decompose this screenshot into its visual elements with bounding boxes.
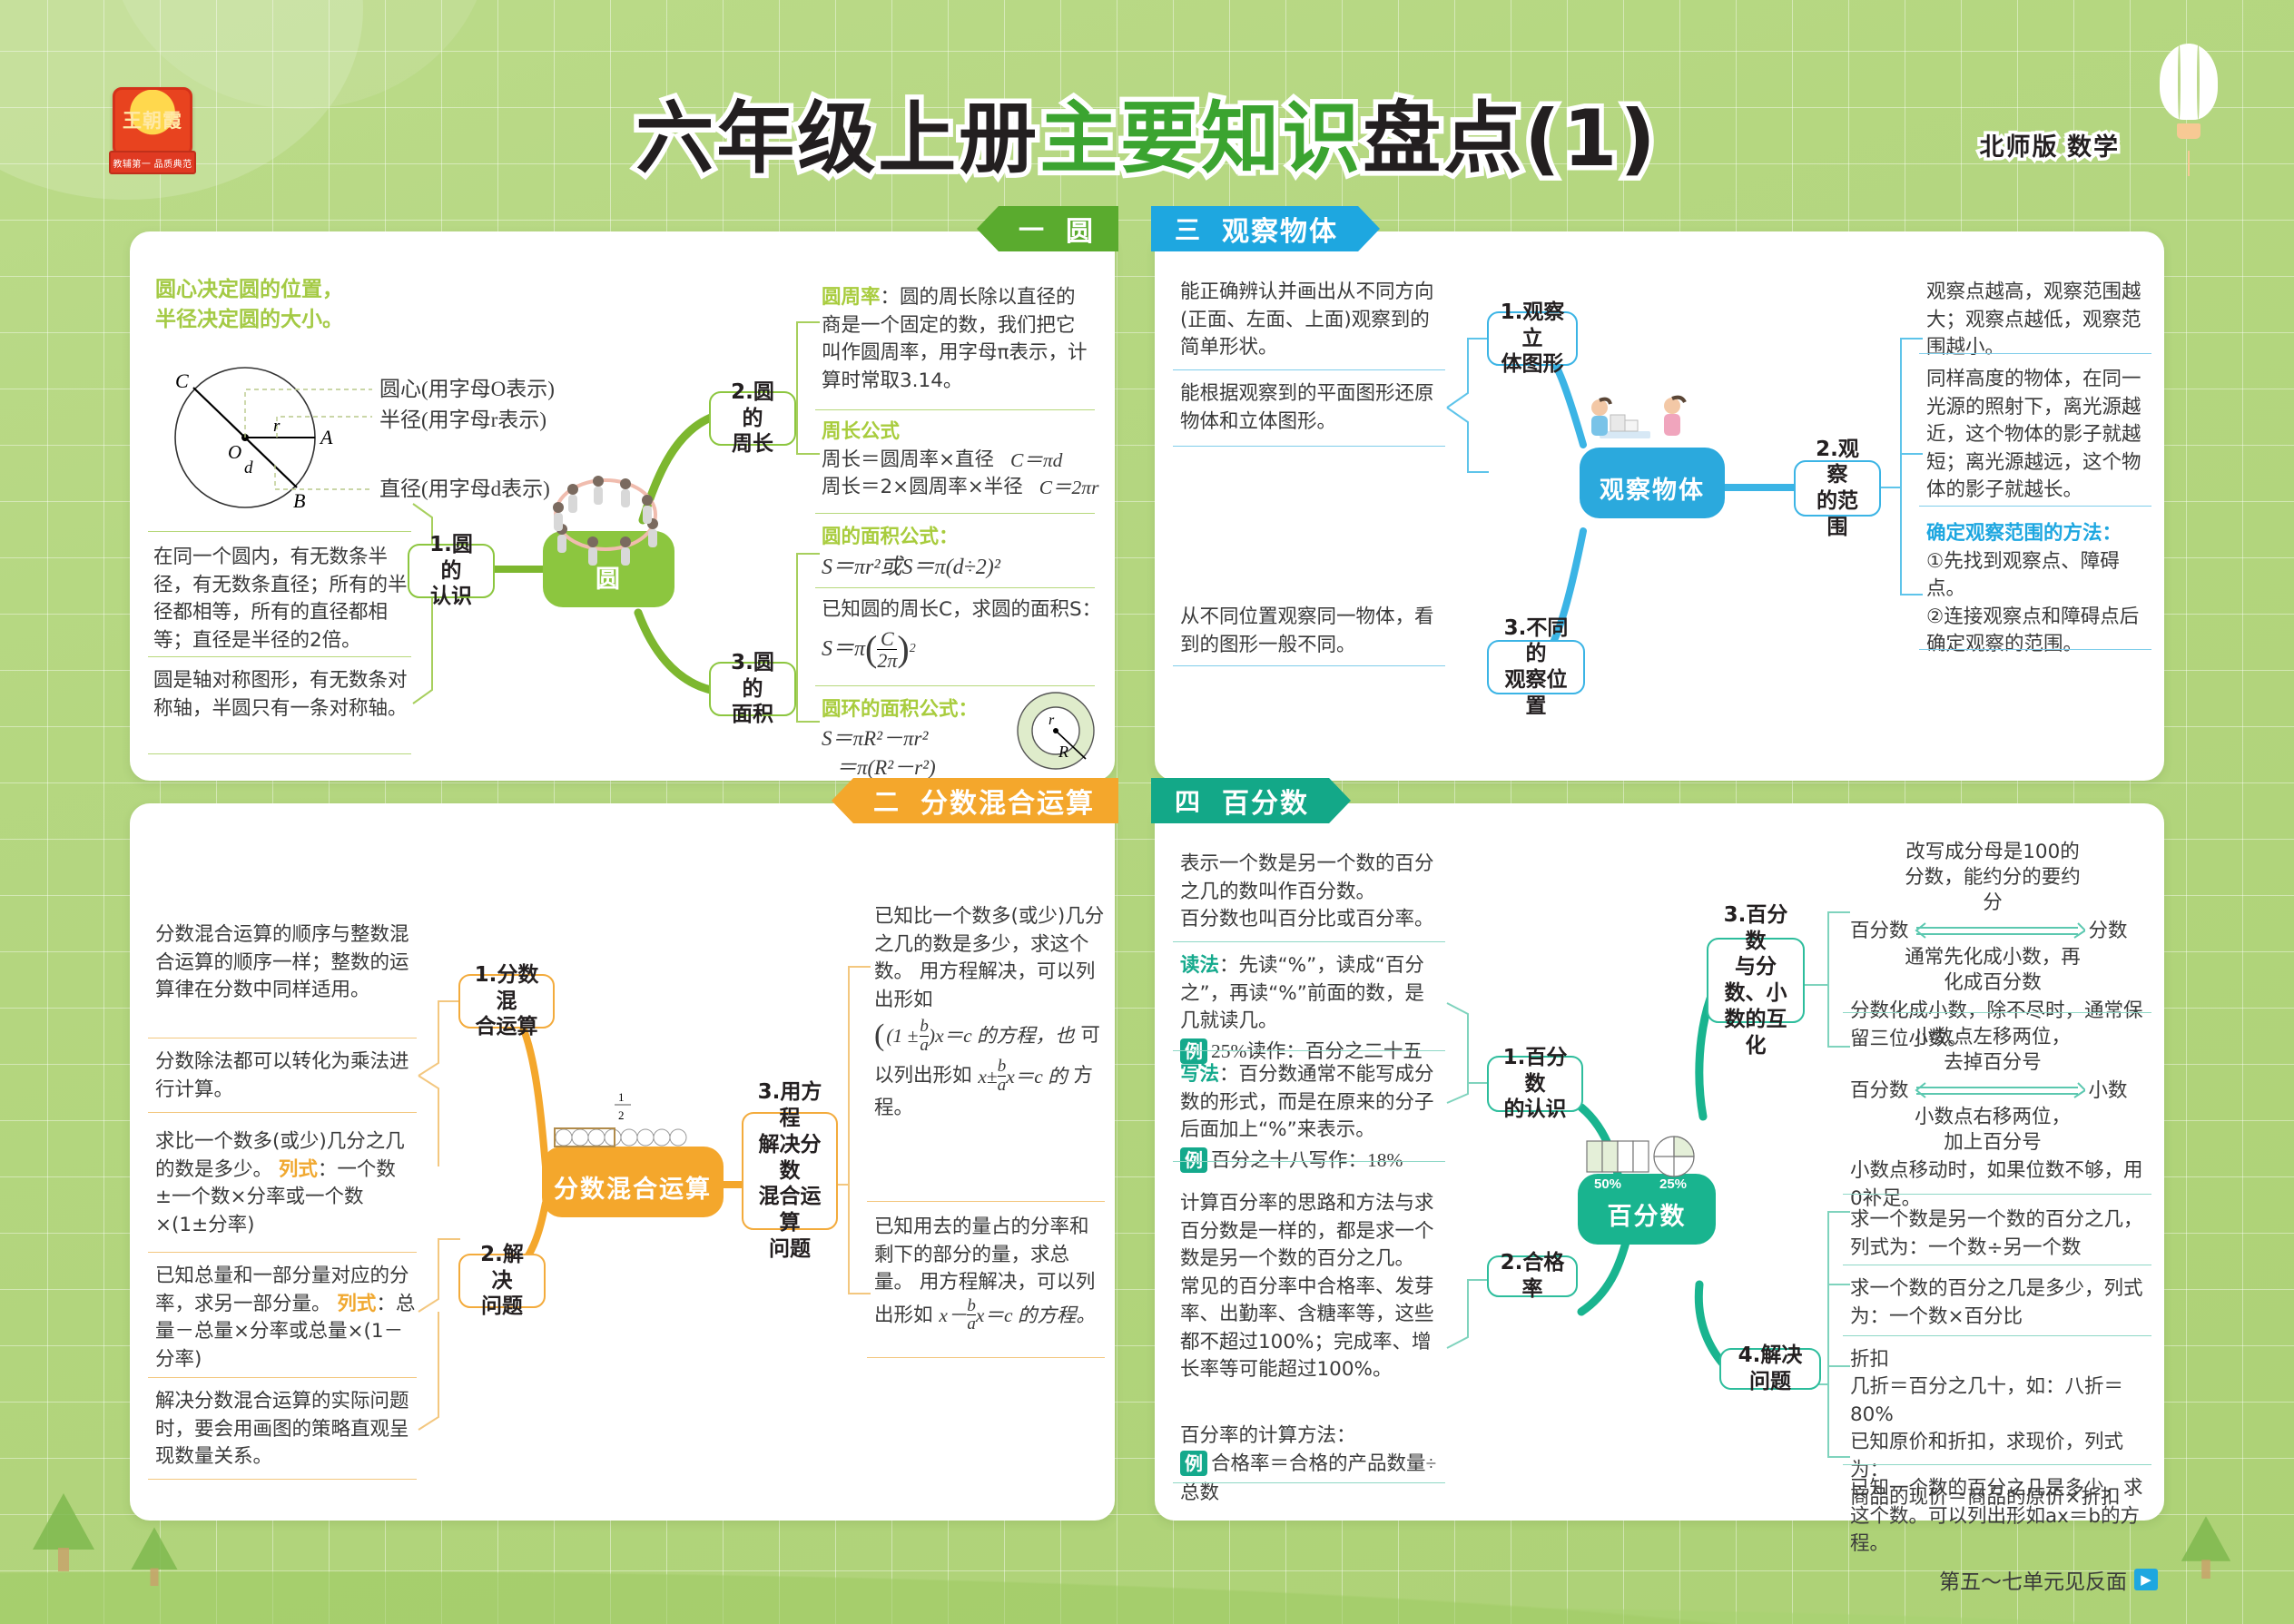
percent-rate-method-title: 百分率的计算方法： <box>1180 1422 1443 1451</box>
divider <box>1173 941 1445 942</box>
divider <box>148 656 411 657</box>
solve-1-label: 列式 <box>279 1158 318 1181</box>
conv1-from: 百分数 <box>1850 918 1909 946</box>
section-label-observe: 三 观察物体 <box>1151 206 1380 251</box>
fraction-solve-3: 解决分数混合运算的实际问题时，要会用画图的策略直观呈现数量关系。 <box>155 1388 417 1471</box>
svg-text:A: A <box>319 426 333 448</box>
divider <box>1173 665 1445 666</box>
observe-note-3: 从不同位置观察同一物体，看到的图形一般不同。 <box>1180 604 1443 659</box>
title-part-grade: 六年级上册 <box>635 94 1039 184</box>
circle-area-known: 已知圆的周长C，求圆的面积S： <box>822 596 1112 625</box>
double-arrow-icon <box>1913 1081 2085 1101</box>
conv2-to: 小数 <box>2089 1078 2128 1106</box>
chip-circle-1[interactable]: 1.圆的 认识 <box>408 544 495 598</box>
divider <box>1843 1012 2151 1013</box>
circle-ring-title: 圆环的面积公式： <box>822 696 1021 724</box>
perimeter-line-1: 周长＝圆周率×直径 <box>822 447 994 475</box>
percent-solve-4: 已知一个数的百分之几是多少，求这个数。可以列出形如ax＝b的方程。 <box>1850 1475 2150 1559</box>
chip-circle-2[interactable]: 2.圆的 周长 <box>709 391 796 446</box>
divider <box>148 753 411 754</box>
conv2-below: 小数点右移两位， 加上百分号 <box>1897 1105 2088 1156</box>
divider <box>148 1252 417 1253</box>
panel-fraction: 二 分数混合运算 分数混合运算的顺序与整数混合运算的顺序一样；整数的运算律在分数… <box>130 803 1115 1521</box>
footer: 第五～七单元见反面 ▶ <box>1939 1564 2158 1595</box>
divider <box>148 531 411 532</box>
section-number: 二 <box>873 782 901 819</box>
eq2-f-tail: x＝c 的方程。 <box>976 1302 1096 1330</box>
chip-observe-2[interactable]: 2.观察 的范围 <box>1794 460 1881 517</box>
divider <box>1843 1335 2151 1336</box>
eq2-f-lead: x－ <box>939 1302 967 1330</box>
double-arrow-icon <box>1913 921 2085 941</box>
divider <box>148 1479 417 1480</box>
panel-percent: 四 百分数 表示一个数是另一个数的百分之几的数叫作百分数。 百分数也叫百分比或百… <box>1155 803 2164 1521</box>
percent-discount-title: 折扣 <box>1850 1346 1889 1374</box>
chip-percent-2[interactable]: 2.合格率 <box>1487 1255 1578 1297</box>
chip-circle-3[interactable]: 3.圆的 面积 <box>709 662 796 716</box>
section-label-fraction: 二 分数混合运算 <box>832 778 1118 823</box>
circle-pi-label: 圆周率 <box>822 286 881 309</box>
divider <box>1919 649 2151 650</box>
section-number: 三 <box>1175 211 1202 247</box>
observe-note-2: 能根据观察到的平面图形还原物体和立体图形。 <box>1180 380 1443 436</box>
conv1-below: 通常先化成小数，再 化成百分数 <box>1897 945 2088 996</box>
svg-text:C: C <box>175 369 189 392</box>
divider <box>1843 1265 2151 1265</box>
conv2-extra: 小数点移动时，如果位数不够，用0补足。 <box>1850 1157 2150 1213</box>
svg-text:d: d <box>244 458 253 477</box>
panel-observe: 三 观察物体 能正确辨认并画出从不同方向(正面、左面、上面)观察到的简单形状。 … <box>1155 231 2164 781</box>
conv2-above: 小数点左移两位， 去掉百分号 <box>1897 1025 2088 1076</box>
svg-text:2: 2 <box>618 1108 625 1122</box>
hub-fraction: 分数混合运算 <box>542 1147 724 1217</box>
page-title: 六年级上册主要知识盘点(1) <box>0 74 2294 188</box>
observe-method-item-1: ①先找到观察点、障碍点。 <box>1926 548 2155 604</box>
section-label-percent: 四 百分数 <box>1151 778 1351 823</box>
svg-text:1: 1 <box>618 1090 625 1104</box>
percent-write-block: 写法：百分数通常不能写成分数的形式，而是在原来的分子后面加上“%”来表示。 例百… <box>1180 1061 1443 1175</box>
observe-method-title: 确定观察范围的方法： <box>1926 520 2155 548</box>
section-name: 观察物体 <box>1222 209 1338 249</box>
percent-rate-example-row: 例合格率＝合格的产品数量÷总数 <box>1180 1450 1452 1507</box>
divider <box>1173 446 1445 447</box>
hot-air-balloon-icon <box>2154 44 2223 162</box>
chip-observe-3[interactable]: 3.不同的 观察位置 <box>1487 640 1585 694</box>
eq1-f2-den: a <box>998 1077 1007 1095</box>
svg-text:R: R <box>1058 743 1068 761</box>
eq2-f-den: a <box>967 1315 976 1334</box>
divider <box>148 1038 417 1038</box>
circle-note-1: 在同一个圆内，有无数条半径，有无数条直径；所有的半径都相等，所有的直径都相等；直… <box>153 544 412 655</box>
conv1-to: 分数 <box>2089 918 2128 946</box>
observe-right-note-2: 同样高度的物体，在同一光源的照射下，离光源越近，这个物体的影子就越短；离光源越远… <box>1926 366 2155 505</box>
panel-circle: 一 圆 圆心决定圆的位置， 半径决定圆的大小。 C A B O r d 圆心(用… <box>130 231 1115 781</box>
divider <box>815 409 1095 410</box>
divider <box>148 1112 417 1113</box>
percent-solve-1: 求一个数是另一个数的百分之几，列式为：一个数÷另一个数 <box>1850 1206 2148 1262</box>
observe-note-1: 能正确辨认并画出从不同方向(正面、左面、上面)观察到的简单形状。 <box>1180 279 1443 362</box>
section-number: 一 <box>1019 211 1046 247</box>
chip-fraction-3[interactable]: 3.用方程 解决分数 混合运算 问题 <box>742 1112 838 1230</box>
kids-observe-illustration <box>1574 384 1728 457</box>
circle-area-formula-2: S＝π ( C 2π ) 2 <box>822 624 916 675</box>
eq2-formula: x－ b a x＝c 的方程。 <box>939 1297 1096 1334</box>
divider <box>1843 1194 2151 1195</box>
circle-label-radius: 半径(用字母r表示) <box>379 406 546 436</box>
circle-area-formula-1: S＝πr²或S＝π(d÷2)² <box>822 552 1112 583</box>
percent-write-label: 写法 <box>1180 1063 1219 1086</box>
chip-fraction-1[interactable]: 1.分数混 合运算 <box>458 974 555 1029</box>
percent-conv-1: 改写成分母是100的 分数，能约分的要约分 百分数 分数 通常先化成小数，再 化… <box>1850 840 2150 1053</box>
footer-text: 第五～七单元见反面 <box>1939 1564 2127 1595</box>
svg-text:r: r <box>1049 713 1055 728</box>
divider <box>1919 506 2151 507</box>
solve-2-label: 列式 <box>337 1293 376 1315</box>
section-name: 百分数 <box>1222 781 1309 821</box>
svg-text:r: r <box>273 417 281 436</box>
circle-perimeter-block: 周长公式 周长＝圆周率×直径C＝πd 周长＝2×圆周率×半径C＝2πr <box>822 418 1103 502</box>
divider <box>1173 1161 1445 1162</box>
circle-ring-block: 圆环的面积公式： S＝πR²－πr² ＝π(R²－r²) <box>822 696 1021 783</box>
section-label-circle: 一 圆 <box>977 206 1118 251</box>
eq1-f1-lead: (1 ± <box>886 1022 918 1050</box>
divider <box>815 685 1095 686</box>
area-f2-den: 2π <box>877 650 897 671</box>
conv2-from: 百分数 <box>1850 1078 1909 1106</box>
eq1-f1-den: a <box>920 1037 929 1055</box>
circle-area-title: 圆的面积公式： <box>822 524 1112 552</box>
eq2-f-num: b <box>967 1297 976 1315</box>
observe-method-item-2: ②连接观察点和障碍点后确定观察的范围。 <box>1926 604 2155 659</box>
chip-percent-1[interactable]: 1.百分数 的认识 <box>1487 1056 1583 1112</box>
circle-label-center: 圆心(用字母O表示) <box>379 375 555 405</box>
divider <box>815 587 1095 588</box>
percent-read-block: 读法：先读“%”，读成“百分之”，再读“%”前面的数，是几就读几。 例25%读作… <box>1180 952 1443 1066</box>
divider <box>1919 353 2151 354</box>
circle-pi-note: 圆周率：圆的周长除以直径的商是一个固定的数，我们把它叫作圆周率，用字母π表示，计… <box>822 284 1094 395</box>
chip-observe-1[interactable]: 1.观察立 体图形 <box>1487 311 1578 366</box>
divider <box>148 1377 417 1378</box>
eq1-f1-num: b <box>920 1018 929 1036</box>
hub-percent: 百分数 <box>1578 1174 1716 1245</box>
chip-percent-3[interactable]: 3.百分数 与分数、小 数的互化 <box>1707 938 1805 1023</box>
eq1-f2-num: b <box>998 1058 1007 1076</box>
percent-solve-2: 求一个数的百分之几是多少，列式为：一个数×百分比 <box>1850 1275 2148 1331</box>
percent-note-1: 表示一个数是另一个数的百分之几的数叫作百分数。 百分数也叫百分比或百分率。 <box>1180 851 1443 934</box>
example-tag: 例 <box>1180 1147 1207 1173</box>
conv1-above: 改写成分母是100的 分数，能约分的要约分 <box>1897 840 2088 916</box>
circle-perimeter-title: 周长公式 <box>822 418 1103 447</box>
eq1-formula-1: ( (1 ± b a )x＝c 的方程，也 <box>874 1014 1075 1058</box>
page-header: 王朝霞 教辅第一 品质典范 六年级上册主要知识盘点(1) 北师版 数学 <box>0 0 2294 213</box>
observe-right-note-1: 观察点越高，观察范围越大；观察点越低，观察范围越小。 <box>1926 279 2153 362</box>
fraction-solve-2: 已知总量和一部分量对应的分率，求另一部分量。 列式：总量－总量×分率或总量×(1… <box>155 1263 417 1373</box>
chip-fraction-2[interactable]: 2.解决 问题 <box>458 1254 546 1308</box>
percent-rate-example: 合格率＝合格的产品数量÷总数 <box>1180 1452 1436 1503</box>
chip-percent-4[interactable]: 4.解决问题 <box>1719 1348 1821 1390</box>
example-tag: 例 <box>1180 1451 1207 1476</box>
section-name: 分数混合运算 <box>921 781 1095 821</box>
eq1-f1-tail: )x＝c 的方程，也 <box>929 1022 1075 1050</box>
fraction-note-2: 分数除法都可以转化为乘法进行计算。 <box>155 1048 417 1104</box>
divider <box>867 1357 1105 1358</box>
hub-observe: 观察物体 <box>1580 448 1725 518</box>
svg-text:B: B <box>293 489 305 512</box>
fraction-solve-1: 求比一个数多(或少)几分之几的数是多少。 列式：一个数±一个数×分率或一个数×(… <box>155 1128 417 1239</box>
fraction-note-1: 分数混合运算的顺序与整数混合运算的顺序一样；整数的运算律在分数中同样适用。 <box>155 921 417 1005</box>
circle-label-diameter: 直径(用字母d表示) <box>379 475 550 505</box>
observe-method-block: 确定观察范围的方法： ①先找到观察点、障碍点。 ②连接观察点和障碍点后确定观察的… <box>1926 520 2155 659</box>
divider <box>867 1201 1105 1202</box>
percent-read-label: 读法 <box>1180 954 1219 977</box>
circle-intro: 圆心决定圆的位置， 半径决定圆的大小。 <box>155 275 518 334</box>
perimeter-formula-1: C＝πd <box>1010 447 1062 475</box>
eq1-f2-tail: x＝c 的 <box>1006 1063 1067 1091</box>
area-f2-exp: 2 <box>910 640 916 658</box>
circle-ring-formula-1: S＝πR²－πr² <box>822 724 1021 754</box>
fraction-eq-note-1: 已知比一个数多(或少)几分之几的数是多少，求这个数。 用方程解决，可以列出形如 … <box>874 903 1106 1123</box>
arrow-right-icon[interactable]: ▶ <box>2134 1569 2158 1590</box>
svg-text:O: O <box>228 441 241 463</box>
divider <box>1173 1050 1445 1051</box>
section-number: 四 <box>1175 782 1202 819</box>
area-f2-num: C <box>881 628 894 649</box>
subject-label: 北师版 数学 <box>1979 127 2120 162</box>
hub-circle: 圆 <box>543 531 674 607</box>
section-name: 圆 <box>1066 209 1095 249</box>
title-part-index: 盘点(1) <box>1363 94 1658 184</box>
percent-write-example: 百分之十八写作：18% <box>1211 1149 1403 1171</box>
divider <box>1173 369 1445 370</box>
area-f2-lead: S＝π <box>822 634 865 664</box>
percent-conv-2: 小数点左移两位， 去掉百分号 百分数 小数 小数点右移两位， 加上百分号 小数点… <box>1850 1025 2150 1213</box>
divider <box>815 513 1095 514</box>
divider <box>1843 1464 2151 1465</box>
divider <box>1173 1482 1445 1483</box>
title-part-main: 主要知识 <box>1039 94 1363 184</box>
percent-rate-text: 计算百分率的思路和方法与求百分数是一样的，都是求一个数是另一个数的百分之几。 常… <box>1180 1190 1443 1384</box>
fraction-eq-note-2: 已知用去的量占的分率和剩下的部分的量，求总量。 用方程解决，可以列出形如 x－ … <box>874 1214 1106 1334</box>
eq1-f2-lead: x± <box>978 1063 997 1091</box>
circle-note-2: 圆是轴对称图形，有无数条对称轴，半圆只有一条对称轴。 <box>153 667 412 723</box>
perimeter-line-2: 周长＝2×圆周率×半径 <box>822 474 1023 502</box>
perimeter-formula-2: C＝2πr <box>1039 474 1099 502</box>
circle-area-block: 圆的面积公式： S＝πr²或S＝π(d÷2)² <box>822 524 1112 583</box>
eq1-formula-2: x± b a x＝c 的 <box>978 1058 1067 1095</box>
